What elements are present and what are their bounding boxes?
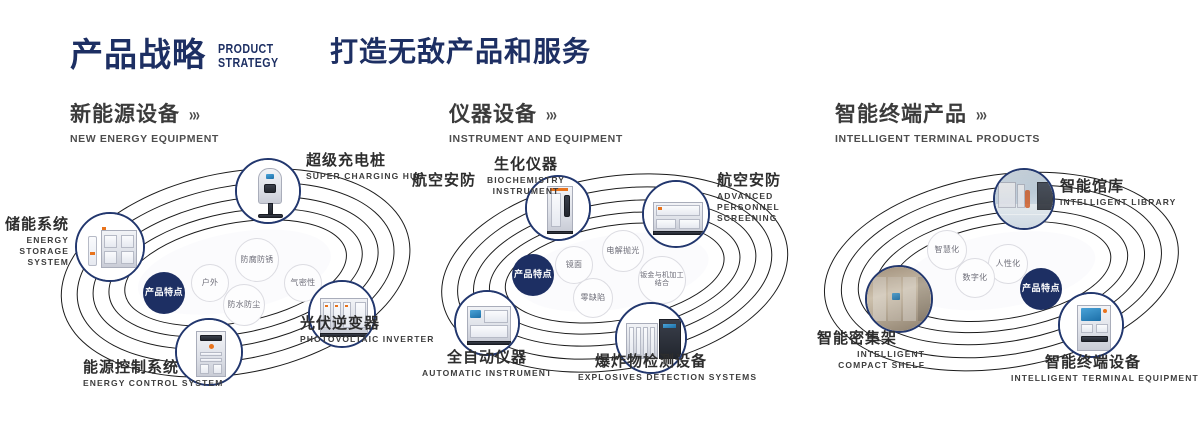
caption-cn: 生化仪器	[470, 156, 582, 173]
compact-shelf-icon	[867, 267, 931, 331]
caption-cn: 智能终端设备	[1011, 354, 1175, 371]
feature-bubble: 电解抛光	[602, 230, 644, 272]
page-slogan: 打造无敌产品和服务	[330, 30, 591, 70]
caption-biochemistry-instrument: 生化仪器 BIOCHEMISTRY INSTRUMENT	[470, 156, 582, 197]
caption-cn: 能源控制系统	[83, 359, 223, 376]
caption-en: INTELLIGENT TERMINAL EQUIPMENT	[1011, 373, 1175, 384]
node-energy-storage-system[interactable]	[75, 212, 145, 282]
caption-energy-control-system: 能源控制系统 ENERGY CONTROL SYSTEM	[83, 359, 223, 389]
caption-energy-storage-system: 储能系统 ENERGY STORAGE SYSTEM	[0, 216, 69, 267]
cluster-intelligent-terminal: 智慧化 人性化 数字化 产品特点	[815, 150, 1195, 400]
node-intelligent-compact-shelf[interactable]	[865, 265, 933, 333]
chevron-right-icon: ›››	[546, 103, 556, 125]
chevron-right-icon: ›››	[189, 103, 199, 125]
section-title-instrument: 仪器设备››› INSTRUMENT AND EQUIPMENT	[449, 98, 623, 145]
caption-en: ENERGY STORAGE SYSTEM	[0, 235, 69, 267]
caption-aviation-security-left: 航空安防	[398, 172, 476, 189]
node-super-charging-hub[interactable]	[235, 158, 301, 224]
feature-bubble: 防腐防锈	[235, 238, 279, 282]
node-advanced-personnel-screening[interactable]	[642, 180, 710, 248]
caption-intelligent-library: 智能馆库 INTELLIGENT LIBRARY	[1060, 178, 1176, 208]
caption-cn: 智能馆库	[1060, 178, 1176, 195]
feature-bubble: 数字化	[955, 258, 995, 298]
charging-pile-icon	[237, 160, 299, 222]
library-room-icon	[995, 170, 1053, 228]
page-header: 产品战略 PRODUCT STRATEGY	[70, 26, 292, 82]
caption-en: ADVANCED PERSONNEL SCREENING	[717, 191, 813, 223]
section-title-en: INTELLIGENT TERMINAL PRODUCTS	[835, 133, 1040, 145]
chevron-right-icon: ›››	[976, 103, 986, 125]
feature-bubble: 零缺陷	[573, 278, 613, 318]
feature-bubble: 户外	[191, 264, 229, 302]
center-badge: 产品特点	[512, 254, 554, 296]
section-title-cn: 新能源设备	[70, 98, 180, 128]
caption-cn: 光伏逆变器	[300, 315, 435, 332]
energy-storage-cabinet-icon	[77, 214, 143, 280]
caption-en: BIOCHEMISTRY INSTRUMENT	[470, 175, 582, 196]
caption-photovoltaic-inverter: 光伏逆变器 PHOTOVOLTAIC INVERTER	[300, 315, 435, 345]
page-title: 产品战略	[70, 38, 206, 71]
caption-cn: 储能系统	[0, 216, 69, 233]
caption-en: ENERGY CONTROL SYSTEM	[83, 378, 223, 389]
cluster-new-energy: 户外 防腐防锈 防水防尘 气密性 产品特点	[45, 150, 425, 400]
feature-bubble: 钣金与机加工结合	[638, 256, 686, 304]
screening-machine-icon	[644, 182, 708, 246]
caption-en: AUTOMATIC INSTRUMENT	[422, 368, 552, 379]
section-title-cn: 智能终端产品	[835, 98, 967, 128]
caption-advanced-personnel-screening: 航空安防 ADVANCED PERSONNEL SCREENING	[717, 172, 813, 223]
section-title-en: INSTRUMENT AND EQUIPMENT	[449, 133, 623, 145]
section-title-cn: 仪器设备	[449, 98, 537, 128]
page-title-english-line1: PRODUCT	[218, 42, 279, 55]
section-title-en: NEW ENERGY EQUIPMENT	[70, 133, 219, 145]
caption-explosives-detection-systems: 爆炸物检测设备 EXPLOSIVES DETECTION SYSTEMS	[578, 353, 724, 383]
caption-en: INTELLIGENT COMPACT SHELF	[817, 349, 925, 370]
caption-cn: 超级充电桩	[306, 152, 425, 169]
page-title-english: PRODUCT STRATEGY	[218, 42, 279, 69]
caption-intelligent-compact-shelf: 智能密集架 INTELLIGENT COMPACT SHELF	[817, 330, 925, 371]
caption-automatic-instrument: 全自动仪器 AUTOMATIC INSTRUMENT	[422, 349, 552, 379]
self-service-kiosk-icon	[1060, 294, 1122, 356]
node-intelligent-terminal-equipment[interactable]	[1058, 292, 1124, 358]
caption-intelligent-terminal-equipment: 智能终端设备 INTELLIGENT TERMINAL EQUIPMENT	[1011, 354, 1175, 384]
product-strategy-infographic: 产品战略 PRODUCT STRATEGY 打造无敌产品和服务 新能源设备›››…	[0, 0, 1200, 422]
node-automatic-instrument[interactable]	[454, 290, 520, 356]
caption-cn: 智能密集架	[817, 330, 925, 347]
section-title-intelligent-terminal: 智能终端产品››› INTELLIGENT TERMINAL PRODUCTS	[835, 98, 1040, 145]
caption-cn: 爆炸物检测设备	[578, 353, 724, 370]
caption-en: PHOTOVOLTAIC INVERTER	[300, 334, 435, 345]
caption-en: INTELLIGENT LIBRARY	[1060, 197, 1176, 208]
caption-en: EXPLOSIVES DETECTION SYSTEMS	[578, 372, 724, 383]
node-intelligent-library[interactable]	[993, 168, 1055, 230]
center-badge: 产品特点	[1020, 268, 1062, 310]
page-title-english-line2: STRATEGY	[218, 56, 279, 69]
caption-cn: 全自动仪器	[422, 349, 552, 366]
caption-cn: 航空安防	[398, 172, 476, 189]
center-badge: 产品特点	[143, 272, 185, 314]
automatic-instrument-icon	[456, 292, 518, 354]
cluster-instrument: 镜面 电解抛光 零缺陷 钣金与机加工结合 产品特点	[430, 150, 800, 400]
section-title-new-energy: 新能源设备››› NEW ENERGY EQUIPMENT	[70, 98, 219, 145]
